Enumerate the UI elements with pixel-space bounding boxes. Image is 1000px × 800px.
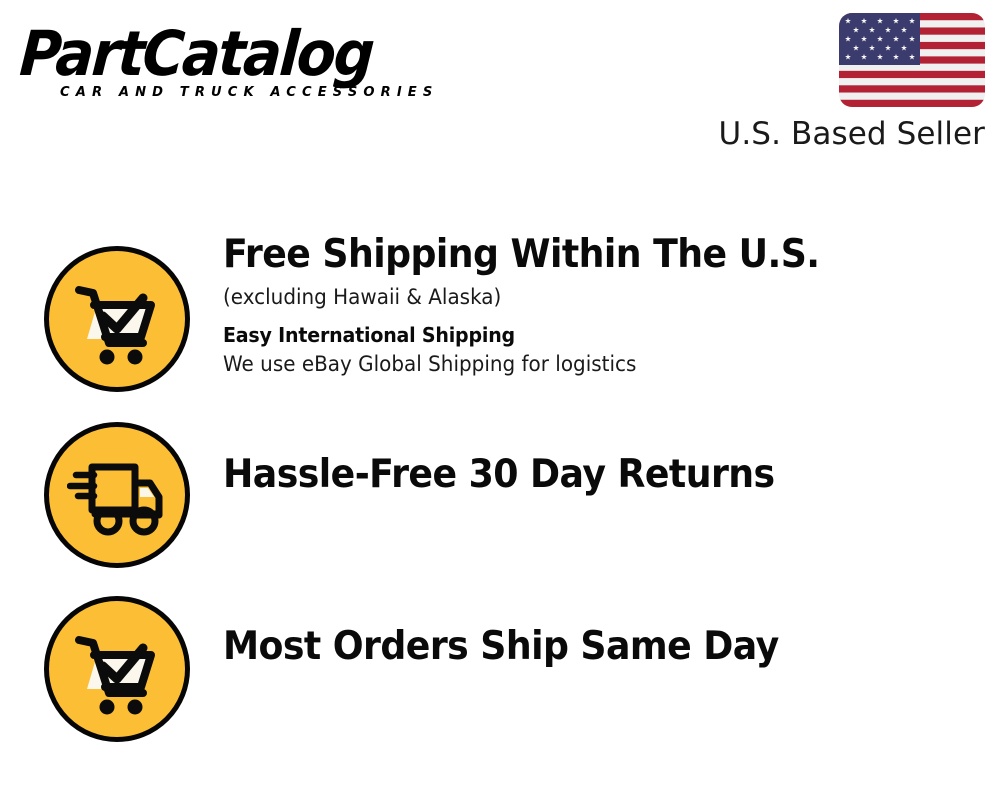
us-based-seller-badge: U.S. Based Seller: [716, 8, 986, 152]
fast-delivery-truck-icon: [44, 422, 190, 568]
cart-check-icon: [44, 596, 190, 742]
us-flag-icon: [838, 8, 986, 112]
feature-text-block: Most Orders Ship Same Day: [223, 582, 1000, 670]
page-header: PartCatalog CAR AND TRUCK ACCESSORIES: [0, 0, 1000, 175]
feature-title: Most Orders Ship Same Day: [223, 624, 946, 670]
feature-sub-detail: We use eBay Global Shipping for logistic…: [223, 350, 961, 379]
feature-row-free-shipping: Free Shipping Within The U.S. (excluding…: [0, 232, 1000, 410]
feature-text-block: Free Shipping Within The U.S. (excluding…: [223, 232, 1000, 379]
feature-row-same-day-ship: Most Orders Ship Same Day: [0, 582, 1000, 757]
cart-check-icon: [44, 246, 190, 392]
brand-tagline: CAR AND TRUCK ACCESSORIES: [60, 84, 479, 100]
feature-sub-heading: Easy International Shipping: [223, 321, 961, 349]
feature-subtitle: (excluding Hawaii & Alaska): [223, 282, 961, 312]
feature-title: Hassle-Free 30 Day Returns: [223, 452, 946, 498]
us-based-seller-label: U.S. Based Seller: [716, 116, 985, 152]
brand-wordmark: PartCatalog: [18, 22, 455, 86]
feature-title: Free Shipping Within The U.S.: [223, 232, 946, 278]
brand-logo[interactable]: PartCatalog CAR AND TRUCK ACCESSORIES: [22, 22, 492, 112]
feature-text-block: Hassle-Free 30 Day Returns: [223, 410, 1000, 498]
feature-row-returns: Hassle-Free 30 Day Returns: [0, 410, 1000, 582]
